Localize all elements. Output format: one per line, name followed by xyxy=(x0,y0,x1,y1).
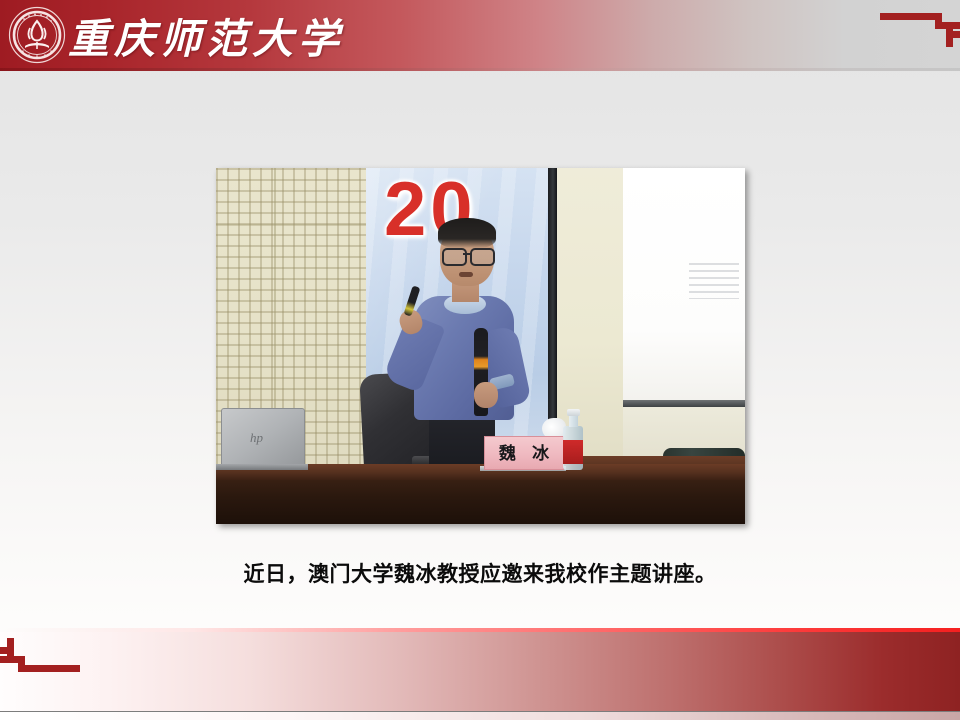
university-crest-icon xyxy=(8,6,66,64)
hp-logo-icon: hp xyxy=(250,430,263,446)
header-banner: 重庆师范大学 xyxy=(0,0,960,71)
screen-faint-text xyxy=(689,263,739,299)
screen-bottom-edge xyxy=(623,400,745,407)
speaker-right-hand xyxy=(474,382,498,408)
speaker-mouth xyxy=(459,272,473,277)
eyeglasses-icon xyxy=(440,248,494,263)
footer-banner xyxy=(0,632,960,712)
desk-front-panel xyxy=(216,480,745,524)
footer-base-strip xyxy=(0,711,960,720)
chinese-fret-corner-icon xyxy=(0,638,84,674)
lecture-photograph: 20 xyxy=(216,168,745,524)
projection-screen xyxy=(623,168,745,400)
water-bottle-cap xyxy=(567,409,580,416)
wall-seam xyxy=(216,224,366,226)
speaker-hair xyxy=(438,218,496,248)
speaker-nameplate-text: 魏 冰 xyxy=(493,445,555,462)
water-bottle-label xyxy=(563,440,583,464)
chinese-fret-corner-icon xyxy=(876,11,960,47)
speaker-nameplate: 魏 冰 xyxy=(484,436,564,470)
screen-frame-edge xyxy=(548,168,557,458)
laptop-base xyxy=(216,464,308,470)
photo-caption: 近日，澳门大学魏冰教授应邀来我校作主题讲座。 xyxy=(0,558,960,588)
page-title: 重庆师范大学 xyxy=(68,4,344,66)
presentation-slide: 重庆师范大学 20 xyxy=(0,0,960,720)
laptop: hp xyxy=(221,408,305,468)
